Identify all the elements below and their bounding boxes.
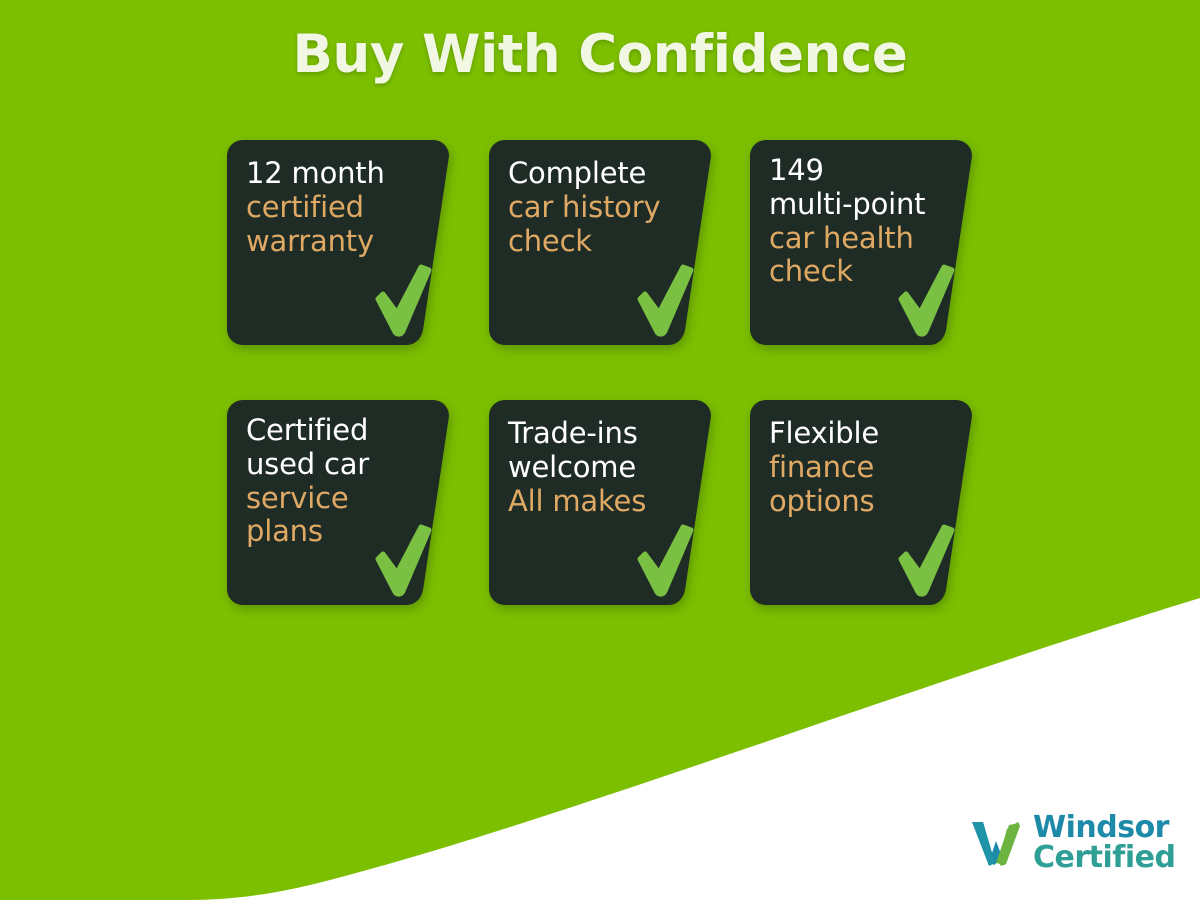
check-icon [896,261,958,339]
card-line: Certified [246,414,426,448]
logo-line-certified: Certified [1033,843,1175,873]
card-line: 12 month [246,157,426,191]
card-text-block: Completecar historycheck [508,157,688,258]
check-icon [635,261,697,339]
feature-card-complete-car-history-check: Completecar historycheck [489,140,711,345]
card-line: car health [769,222,949,256]
card-line: certified [246,191,426,225]
logo-wordmark: Windsor Certified [1033,813,1175,873]
check-icon [896,521,958,599]
card-text-block: Flexiblefinanceoptions [769,417,949,518]
card-line: finance [769,451,949,485]
feature-card-149-multi-point-car-health-check: 149multi-pointcar healthcheck [750,140,972,345]
feature-card-certified-used-car-service-plans: Certifiedused carserviceplans [227,400,449,605]
card-line: used car [246,448,426,482]
card-line: Trade-ins [508,417,688,451]
page-title: Buy With Confidence [0,24,1200,85]
check-icon [373,521,435,599]
card-line: options [769,485,949,519]
feature-card-flexible-finance-options: Flexiblefinanceoptions [750,400,972,605]
check-icon [635,521,697,599]
feature-card-twelve-month-certified-warranty: 12 monthcertifiedwarranty [227,140,449,345]
card-line: 149 [769,154,949,188]
windsor-certified-logo: Windsor Certified [968,808,1168,878]
card-text-block: Trade-inswelcomeAll makes [508,417,688,518]
check-icon [373,261,435,339]
card-line: All makes [508,485,688,519]
card-text-block: 12 monthcertifiedwarranty [246,157,426,258]
card-line: warranty [246,225,426,259]
card-line: multi-point [769,188,949,222]
windsor-w-mark-icon [968,817,1024,869]
logo-line-windsor: Windsor [1033,813,1175,843]
card-line: Flexible [769,417,949,451]
card-line: car history [508,191,688,225]
feature-card-trade-ins-welcome-all-makes: Trade-inswelcomeAll makes [489,400,711,605]
card-line: service [246,482,426,516]
card-line: welcome [508,451,688,485]
promo-graphic: Buy With Confidence 12 monthcertifiedwar… [0,0,1200,900]
card-line: Complete [508,157,688,191]
card-line: check [508,225,688,259]
